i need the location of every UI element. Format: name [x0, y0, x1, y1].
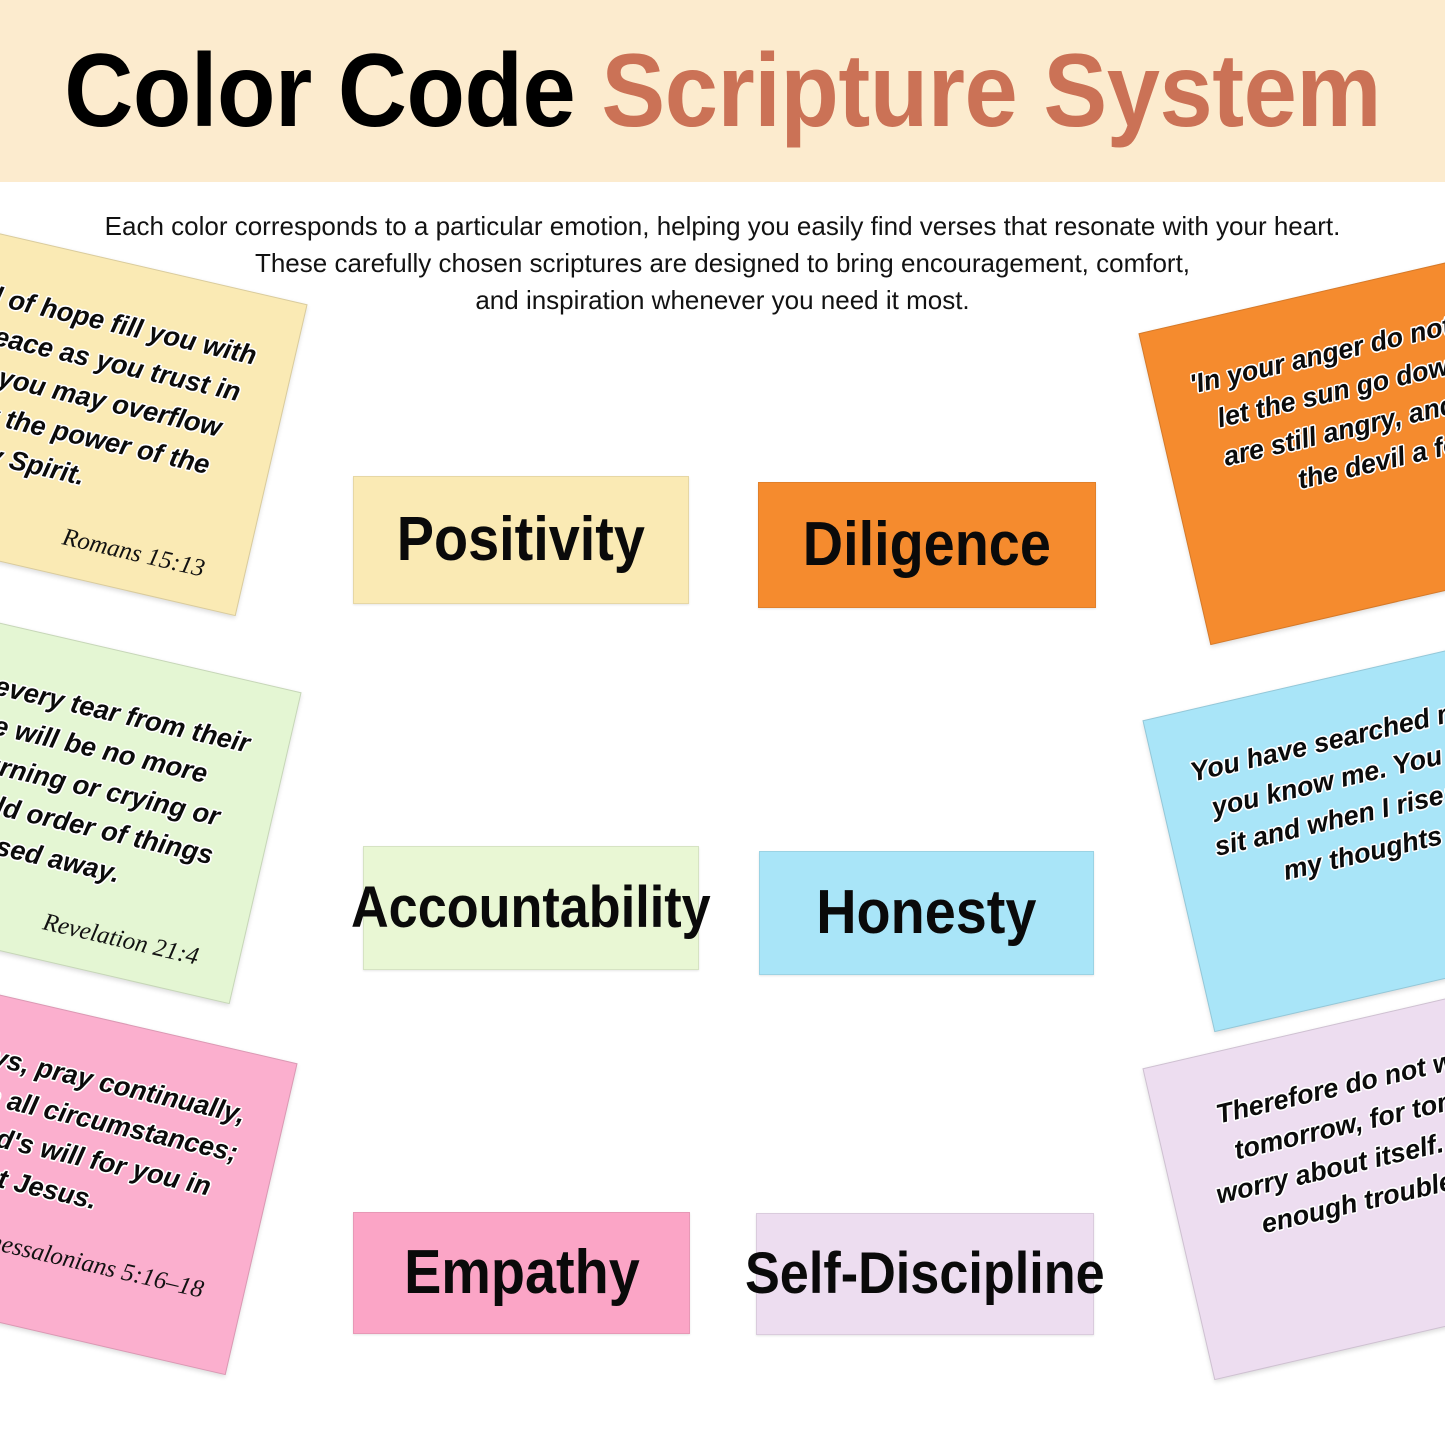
page-title-accent: Scripture System — [601, 33, 1381, 149]
scripture-verse-text: Rejoice always, pray continually, give t… — [0, 1001, 254, 1250]
scripture-card-self-discipline[interactable]: Therefore do not worry about tomorrow, f… — [1142, 956, 1445, 1380]
scripture-card-accountability[interactable]: He will wipe every tear from their eyes.… — [0, 580, 302, 1004]
category-chip-accountability[interactable]: Accountability — [363, 846, 699, 970]
category-chip-label: Self-Discipline — [745, 1245, 1105, 1303]
poster-canvas: Color Code Scripture System Each color c… — [0, 0, 1445, 1445]
category-chip-label: Accountability — [351, 879, 711, 937]
subtitle-line-1: Each color corresponds to a particular e… — [0, 208, 1445, 245]
scripture-verse-text: Therefore do not worry about tomorrow, f… — [1186, 1006, 1445, 1255]
category-chip-honesty[interactable]: Honesty — [759, 851, 1094, 975]
category-chip-self-discipline[interactable]: Self-Discipline — [756, 1213, 1094, 1335]
category-chip-label: Positivity — [397, 509, 645, 571]
category-chip-empathy[interactable]: Empathy — [353, 1212, 690, 1334]
category-chip-label: Empathy — [404, 1242, 640, 1304]
category-chip-label: Honesty — [816, 882, 1036, 944]
subtitle-line-2: These carefully chosen scriptures are de… — [0, 245, 1445, 282]
category-chip-diligence[interactable]: Diligence — [758, 482, 1096, 608]
scripture-card-empathy[interactable]: Rejoice always, pray continually, give t… — [0, 951, 298, 1375]
page-title-primary: Color Code — [64, 33, 575, 149]
scripture-verse-text: May the God of hope fill you with all jo… — [0, 242, 264, 529]
scripture-verse-text: You have searched me, Lord, and you know… — [1186, 658, 1445, 907]
header-band: Color Code Scripture System — [0, 0, 1445, 182]
page-title: Color Code Scripture System — [64, 39, 1381, 143]
category-chip-positivity[interactable]: Positivity — [353, 476, 689, 604]
scripture-verse-text: He will wipe every tear from their eyes.… — [0, 630, 258, 917]
category-chip-label: Diligence — [803, 514, 1051, 576]
scripture-card-honesty[interactable]: You have searched me, Lord, and you know… — [1142, 608, 1445, 1032]
